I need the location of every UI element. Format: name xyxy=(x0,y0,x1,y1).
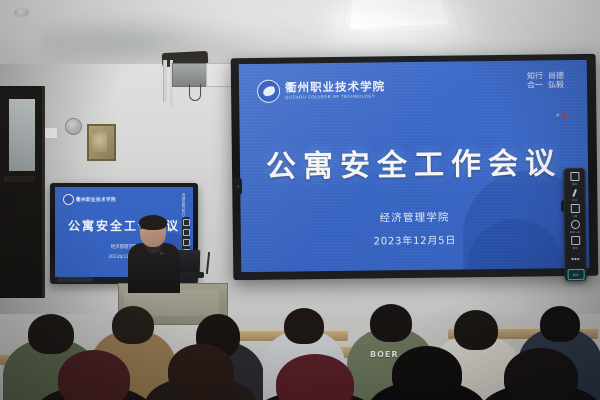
toolbar-item-whiteboard[interactable]: 白板 xyxy=(566,204,583,219)
audience-member-head xyxy=(284,308,324,344)
toolbar-label-4: 摄像 xyxy=(573,246,578,250)
framed-picture-art xyxy=(92,129,107,152)
toolbar-label-1: 批注 xyxy=(572,198,577,202)
presenter-hair xyxy=(139,215,167,230)
mon-toolbar-icon-3[interactable] xyxy=(183,239,190,246)
pen-icon xyxy=(572,189,577,197)
audience-member-head xyxy=(370,304,412,342)
wall-conduit xyxy=(163,60,167,102)
mon-toolbar-icon-1[interactable] xyxy=(183,219,190,226)
toolbar-label-2: 白板 xyxy=(572,214,577,218)
audience-area: BOER xyxy=(0,284,600,400)
cable-loop xyxy=(189,84,201,101)
screen-share-icon xyxy=(570,172,579,181)
mon-crest-icon xyxy=(63,194,74,205)
motto-signature: 题 xyxy=(556,112,559,117)
light-switch-icon[interactable] xyxy=(44,127,58,139)
crest-bird-icon xyxy=(262,86,276,97)
motto-column-1: 尚德弘毅 xyxy=(548,72,568,114)
door-window xyxy=(6,96,38,174)
toolbar-item-camera[interactable]: 摄像 xyxy=(567,235,584,250)
toolbar-item-screen-share[interactable]: 投屏 xyxy=(566,172,583,187)
jacket-text: BOER xyxy=(370,350,399,359)
smoke-detector-icon xyxy=(14,8,29,17)
slide-title: 公寓安全工作会议 xyxy=(240,138,589,186)
toolbar-item-more[interactable] xyxy=(567,251,584,266)
presenter-mic-icon xyxy=(160,252,163,255)
audience-member-head xyxy=(454,310,498,350)
main-display-screen[interactable]: 衢州职业技术学院 QUZHOU COLLEGE OF TECHNOLOGY 尚德… xyxy=(239,60,590,272)
toolbar-label-0: 投屏 xyxy=(572,182,577,186)
audience-member-head xyxy=(168,344,234,398)
school-name-en: QUZHOU COLLEGE OF TECHNOLOGY xyxy=(285,95,385,100)
wall-speaker-icon xyxy=(65,118,82,135)
audience-member-head xyxy=(58,350,130,400)
audience-member-head xyxy=(112,306,154,344)
audience-member-head xyxy=(28,314,74,354)
toolbar-action-button[interactable]: 退出 xyxy=(567,269,584,280)
school-crest-icon xyxy=(257,80,280,103)
door-handle-icon[interactable] xyxy=(4,176,34,182)
mon-school-name: 衢州职业技术学院 xyxy=(76,197,116,203)
window-icon xyxy=(570,204,579,213)
secondary-monitor-stand xyxy=(57,277,93,282)
mon-school-logo: 衢州职业技术学院 xyxy=(63,194,116,205)
toolbar-item-pen[interactable]: 批注 xyxy=(566,188,583,203)
mon-title: 公寓安全工作会议 xyxy=(55,217,193,234)
motto-column-2: 知行合一 xyxy=(527,72,547,114)
toolbar-action-label: 退出 xyxy=(573,272,579,276)
audience-member-head xyxy=(540,306,580,342)
display-left-tab[interactable]: › xyxy=(234,178,242,195)
school-motto-calligraphy: 尚德弘毅 知行合一 题 xyxy=(527,72,568,114)
camera-icon xyxy=(571,236,580,245)
school-logo: 衢州职业技术学院 QUZHOU COLLEGE OF TECHNOLOGY xyxy=(257,78,385,103)
mon-toolbar-icon-2[interactable] xyxy=(183,229,190,236)
motto-seal-icon xyxy=(562,114,566,118)
ceiling-stain xyxy=(40,14,270,62)
toolbar-item-capture[interactable]: 截屏工具 xyxy=(566,219,583,234)
display-toolbar[interactable]: 投屏 批注 白板 截屏工具 摄像 退出 xyxy=(563,168,586,281)
more-dots-icon xyxy=(571,258,579,260)
toolbar-label-3: 截屏工具 xyxy=(570,230,580,234)
audience-member-head xyxy=(504,348,578,400)
school-name-cn: 衢州职业技术学院 xyxy=(285,81,385,94)
capture-icon xyxy=(570,220,579,229)
audience-member-head xyxy=(392,346,462,400)
classroom-photo: 衢州职业技术学院 QUZHOU COLLEGE OF TECHNOLOGY 尚德… xyxy=(0,0,600,400)
